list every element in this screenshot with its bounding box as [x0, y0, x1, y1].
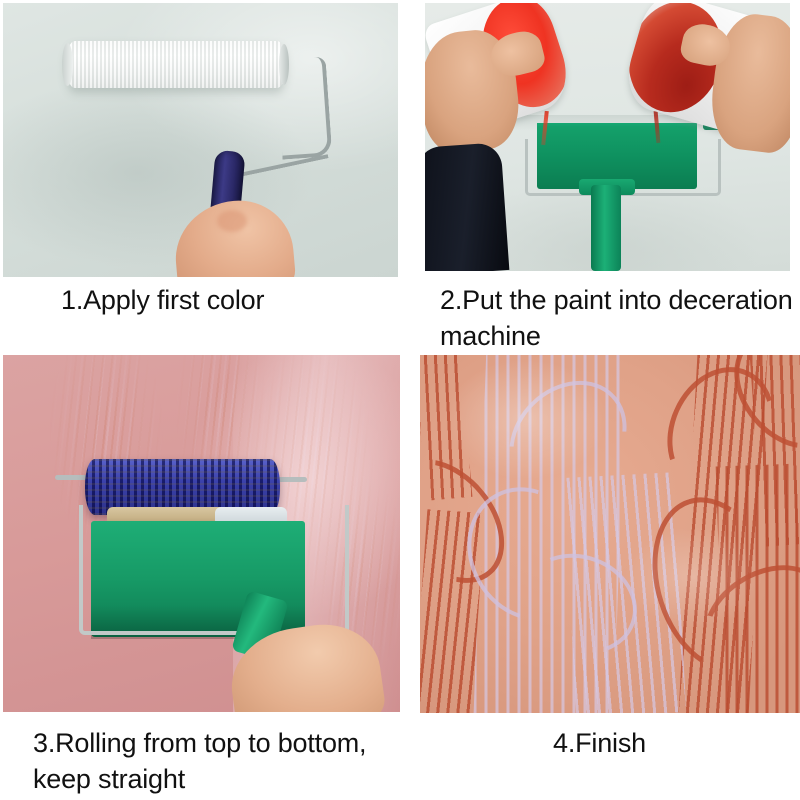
photo-finish: [420, 355, 800, 713]
caption-step-1: 1.Apply first color: [61, 282, 264, 318]
caption-step-4: 4.Finish: [553, 725, 646, 761]
tray-handle: [591, 185, 621, 271]
photo-put-paint-into-machine: [425, 3, 790, 271]
caption-step-2: 2.Put the paint into deceration machine: [440, 282, 800, 354]
applicator-metal-bracket: [79, 505, 349, 635]
photo-rolling-top-to-bottom: [3, 355, 400, 712]
photo-apply-first-color: [3, 3, 398, 277]
finished-wall-gloss: [420, 355, 800, 713]
hand-knuckle-shading: [217, 210, 247, 232]
instruction-sheet: 1.Apply first color 2.Put the paint into…: [0, 0, 800, 800]
caption-step-3: 3.Rolling from top to bottom, keep strai…: [33, 725, 423, 797]
paint-roller-sleeve: [66, 41, 286, 88]
hand-holding-roller: [171, 196, 297, 277]
black-sleeve: [425, 142, 509, 271]
